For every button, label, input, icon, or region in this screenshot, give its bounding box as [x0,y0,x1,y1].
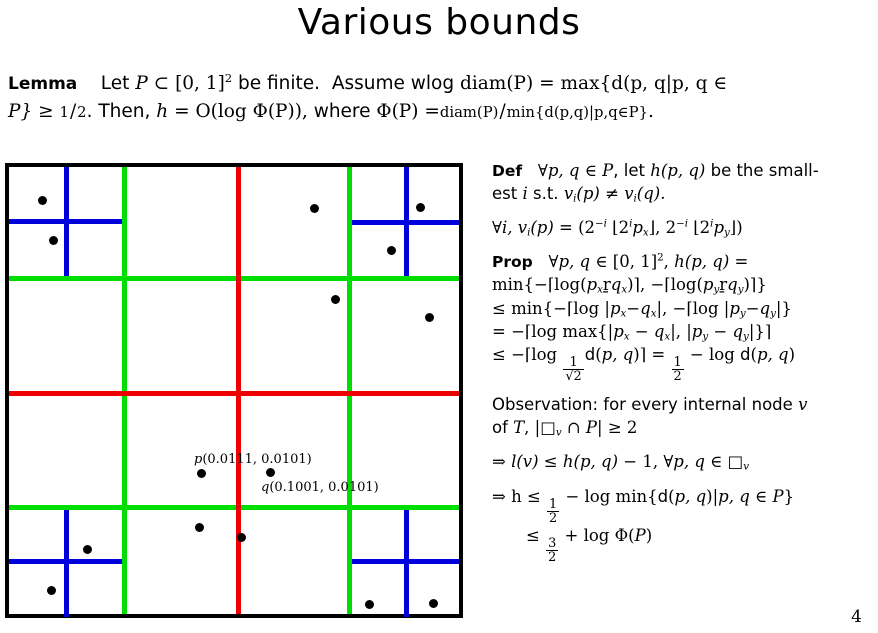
grid-line-green-h-lower [9,505,459,510]
page-title: Various bounds [0,2,878,43]
quadtree-subdivision-diagram: p(0.0111, 0.0101)q(0.1001, 0.0101) [5,163,463,618]
max-set-expr: max{d(p, q|p, q ∈ [561,73,728,94]
implication-2: ⇒ h ≤ 12 − log min{d(p, q)|p, q ∈ P} ≤ 3… [492,486,876,564]
not-equal-symbol: ≠ [605,184,619,203]
Phi-P: Φ(P) [376,101,418,122]
def-forall-pq: ∀p, q ∈ P [538,161,613,180]
implication-3-expr: ≤ 32 + log Φ(P) [492,526,652,545]
observation-node-v: v [798,395,807,414]
data-point-pt-5 [387,246,396,255]
def-hpq: h(p, q) [650,161,705,180]
grid-canvas: p(0.0111, 0.0101)q(0.1001, 0.0101) [9,167,459,614]
one-half-slant: 1/2 [60,101,87,122]
prop-line-4: ≤ −⌈log 1√2d(p, q)⌉ = 12 − log d(p, q) [492,345,795,364]
def-i: i [522,184,527,203]
implication-1-expr: ⇒ l(v) ≤ h(p, q) − 1, ∀p, q ∈ □v [492,452,749,471]
def-keyword: Def [492,162,522,180]
forall-i: ∀i, [492,218,512,237]
data-point-pt-4 [416,203,425,212]
data-point-pt-12 [365,600,374,609]
prop-head: ∀p, q ∈ [0, 1]2, h(p, q) = [549,252,749,271]
lemma-P-close: P} [8,101,32,122]
def-st: s.t. [533,184,559,203]
imp2-lead: ⇒ h ≤ [492,487,541,506]
data-point-pt-q [266,468,275,477]
equals-1: = [539,73,555,94]
observation-line-1: Observation: for every internal node [492,395,793,414]
right-column: Def ∀p, q ∈ P, let h(p, q) be the small-… [492,160,876,564]
def-vi-q: vi(q). [624,184,665,203]
lemma-finite: be finite. [238,73,320,94]
def-formula: ∀i, vi(p) = (2−i ⌊2ipx⌋, 2−i ⌊2ipy⌋) [492,217,876,240]
unit-square-exponent: 2 [225,71,232,85]
lemma-h: h [156,101,168,122]
grid-line-blue-h-br [347,559,459,564]
def-est: est [492,184,517,203]
data-point-pt-1 [38,196,47,205]
prop-block: Prop ∀p, q ∈ [0, 1]2, h(p, q) = min{−⌈lo… [492,251,876,383]
grid-line-blue-h-tr [347,220,459,225]
observation-of: of [492,418,508,437]
data-point-pt-8 [195,523,204,532]
label-q-coords: (0.1001, 0.0101) [269,480,378,495]
grid-line-green-h-upper [9,276,459,281]
unit-square: [0, 1]2 [175,73,232,94]
def-vi-p: vi(p) [564,184,600,203]
def-block: Def ∀p, q ∈ P, let h(p, q) be the small-… [492,160,876,206]
def-smallest: be the small- [711,161,819,180]
implication-2-expr: ⇒ h ≤ 12 − log min{d(p, q)|p, q ∈ P} [492,487,794,506]
label-p: p(0.0111, 0.0101) [194,452,312,467]
grid-line-blue-h-bl [9,559,125,564]
spread-ratio: diam(P)/min{d(p,q)|p,q∈P} [440,101,648,122]
equals-3: = [424,101,440,122]
ge-symbol: ≥ [38,101,54,122]
lemma-set-P: P [135,73,147,94]
lemma-statement: Lemma Let P ⊂ [0, 1]2 be finite. Assume … [8,70,870,126]
big-O-expr: O(log Φ(P)), [195,101,307,122]
vi-formula-body: (2−i ⌊2ipx⌋, 2−i ⌊2ipy⌋) [578,218,743,237]
data-point-pt-3 [310,204,319,213]
label-p-coords: (0.0111, 0.0101) [202,452,311,467]
data-point-pt-11 [47,586,56,595]
data-point-pt-2 [49,236,58,245]
page-number: 4 [851,607,862,627]
lemma-let: Let [101,73,130,94]
lemma-assume: Assume wlog [332,73,454,94]
data-point-pt-p [197,469,206,478]
lemma-where: where [314,101,371,122]
vi-of-p: vi(p) [518,218,554,237]
grid-line-red-h-center [9,391,459,396]
subset-symbol: ⊂ [154,73,170,94]
prop-line-1: min{−⌈log(pxṟqx)⌉, −⌈log(pyṟqy)⌉} [492,275,767,294]
data-point-pt-13 [429,599,438,608]
equals-def: = [559,218,573,237]
data-point-pt-7 [425,313,434,322]
data-point-pt-10 [83,545,92,554]
def-let: , let [613,161,645,180]
grid-line-blue-h-tl [9,219,125,224]
prop-keyword: Prop [492,253,533,271]
observation-T: T [513,418,524,437]
prop-line-3: = −⌈log max{|px − qx|, |py − qy|}⌉ [492,322,771,341]
data-point-pt-9 [237,533,246,542]
diam-P: diam(P) [460,73,533,94]
label-q: q(0.1001, 0.0101) [261,480,379,495]
lemma-then: . Then, [87,101,151,122]
imp3-lead: ≤ [526,526,540,545]
observation-block: Observation: for every internal node v o… [492,394,876,440]
data-point-pt-6 [331,295,340,304]
implication-1: ⇒ l(v) ≤ h(p, q) − 1, ∀p, q ∈ □v [492,451,876,474]
prop-line-2: ≤ min{−⌈log |px−qx|, −⌈log |py−qy|} [492,299,792,318]
equals-2: = [174,101,190,122]
lemma-keyword: Lemma [8,74,77,94]
observation-cell-count: , |□v ∩ P| ≥ 2 [524,418,637,437]
